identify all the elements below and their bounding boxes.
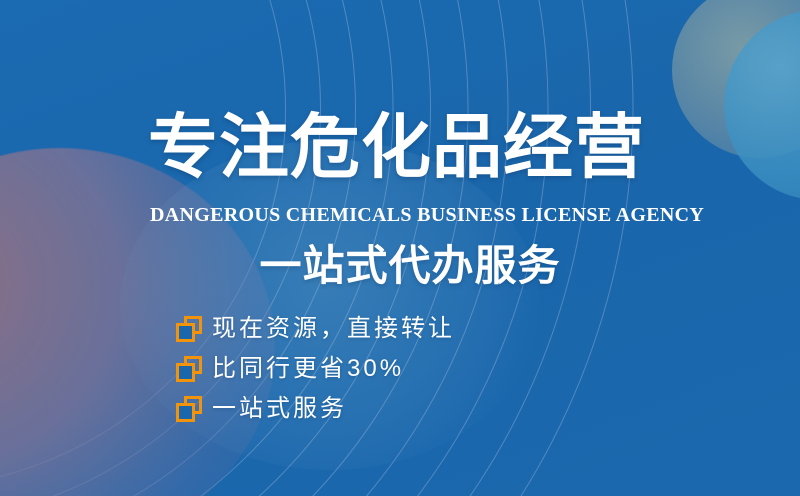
list-item: 现在资源，直接转让 [176, 313, 455, 344]
overlapping-squares-icon [176, 396, 202, 422]
list-item-label: 比同行更省30% [212, 357, 404, 381]
feature-bullet-list: 现在资源，直接转让 比同行更省30% 一站式服务 [176, 313, 455, 424]
list-item-label: 一站式服务 [212, 397, 347, 421]
main-headline: 专注危化品经营 [148, 112, 668, 182]
list-item: 比同行更省30% [176, 353, 455, 384]
overlapping-squares-icon [176, 316, 202, 342]
secondary-headline: 一站式代办服务 [150, 243, 670, 289]
english-subtitle: Dangerous Chemicals Business License Age… [150, 204, 670, 227]
list-item: 一站式服务 [176, 393, 455, 424]
overlapping-squares-icon [176, 356, 202, 382]
list-item-label: 现在资源，直接转让 [212, 317, 455, 341]
banner-content: 专注危化品经营 Dangerous Chemicals Business Lic… [0, 0, 800, 496]
promotional-banner: 专注危化品经营 Dangerous Chemicals Business Lic… [0, 0, 800, 496]
